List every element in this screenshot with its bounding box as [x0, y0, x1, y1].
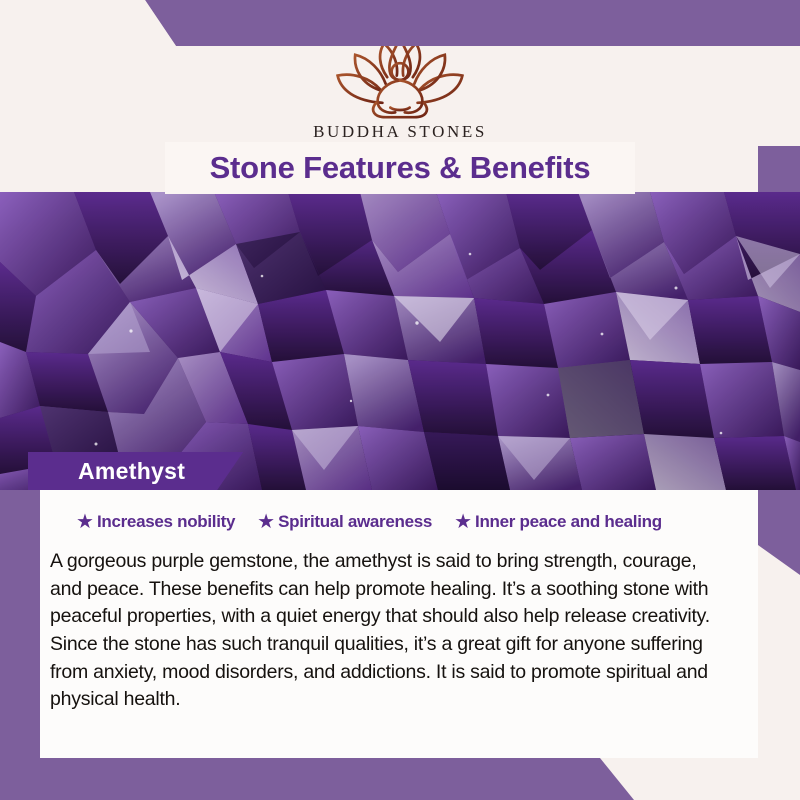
brand-header: BUDDHA STONES: [0, 0, 800, 146]
benefit-label: Spiritual awareness: [278, 512, 432, 532]
star-icon: ★: [454, 512, 472, 532]
star-icon: ★: [76, 512, 94, 532]
title-banner: Stone Features & Benefits: [165, 142, 635, 194]
benefit-item: ★ Increases nobility: [76, 512, 235, 532]
amethyst-hero-image: [0, 192, 800, 490]
benefit-item: ★ Inner peace and healing: [454, 512, 662, 532]
stone-description-panel: ★ Increases nobility ★ Spiritual awarene…: [40, 490, 758, 758]
star-icon: ★: [257, 512, 275, 532]
benefit-label: Inner peace and healing: [475, 512, 662, 532]
stone-description-text: A gorgeous purple gemstone, the amethyst…: [48, 548, 734, 714]
stone-name-label: Amethyst: [78, 458, 185, 485]
brand-name: BUDDHA STONES: [313, 122, 487, 142]
page-title: Stone Features & Benefits: [210, 150, 591, 186]
stone-name-ribbon: Amethyst: [28, 452, 243, 490]
lotus-meditation-icon: [320, 34, 480, 120]
benefit-item: ★ Spiritual awareness: [257, 512, 432, 532]
frame-bottom-band: [0, 758, 800, 800]
frame-left-band: [0, 488, 40, 800]
benefits-list: ★ Increases nobility ★ Spiritual awarene…: [48, 512, 734, 532]
benefit-label: Increases nobility: [97, 512, 235, 532]
